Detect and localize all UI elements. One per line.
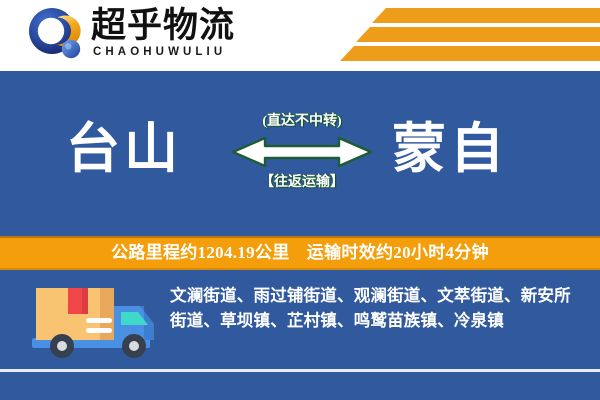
main-blue-panel: 台山 (直达不中转) 【往返运输】 蒙自 公路里程约1204.19公里 运输时效… (0, 71, 600, 400)
coverage-section: 文澜街道、雨过铺街道、观澜街道、文萃街道、新安所街道、草坝镇、芷村镇、鸣鹫苗族镇… (0, 274, 600, 370)
brand-wordmark: 超乎物流 CHAOHUWULIU (91, 6, 235, 59)
route-arrow-group: (直达不中转) 【往返运输】 (228, 113, 376, 223)
circle-q-logo-icon (26, 6, 84, 64)
distance-duration-bar: 公路里程约1204.19公里 运输时效约20小时4分钟 (0, 236, 600, 270)
brand-name-en: CHAOHUWULIU (93, 46, 235, 59)
brand-logo[interactable]: 超乎物流 CHAOHUWULIU (26, 6, 235, 64)
delivery-truck-icon (28, 278, 162, 366)
double-headed-arrow-icon (228, 134, 376, 170)
brand-name-cn: 超乎物流 (91, 7, 235, 45)
coverage-areas-text: 文澜街道、雨过铺街道、观澜街道、文萃街道、新安所街道、草坝镇、芷村镇、鸣鹫苗族镇… (170, 283, 585, 333)
bottom-divider (0, 369, 600, 372)
destination-city: 蒙自 (392, 119, 508, 179)
orange-speed-stripes-icon (340, 6, 600, 62)
distance-duration-text: 公路里程约1204.19公里 运输时效约20小时4分钟 (111, 243, 489, 263)
header-bar: 超乎物流 CHAOHUWULIU (0, 0, 600, 71)
route-row: 台山 (直达不中转) 【往返运输】 蒙自 (0, 71, 600, 236)
direct-shipping-note: (直达不中转) (228, 113, 376, 131)
origin-city: 台山 (66, 119, 182, 179)
logistics-route-poster: 超乎物流 CHAOHUWULIU 台山 (直达不中转) (0, 0, 600, 400)
roundtrip-note: 【往返运输】 (228, 174, 376, 192)
